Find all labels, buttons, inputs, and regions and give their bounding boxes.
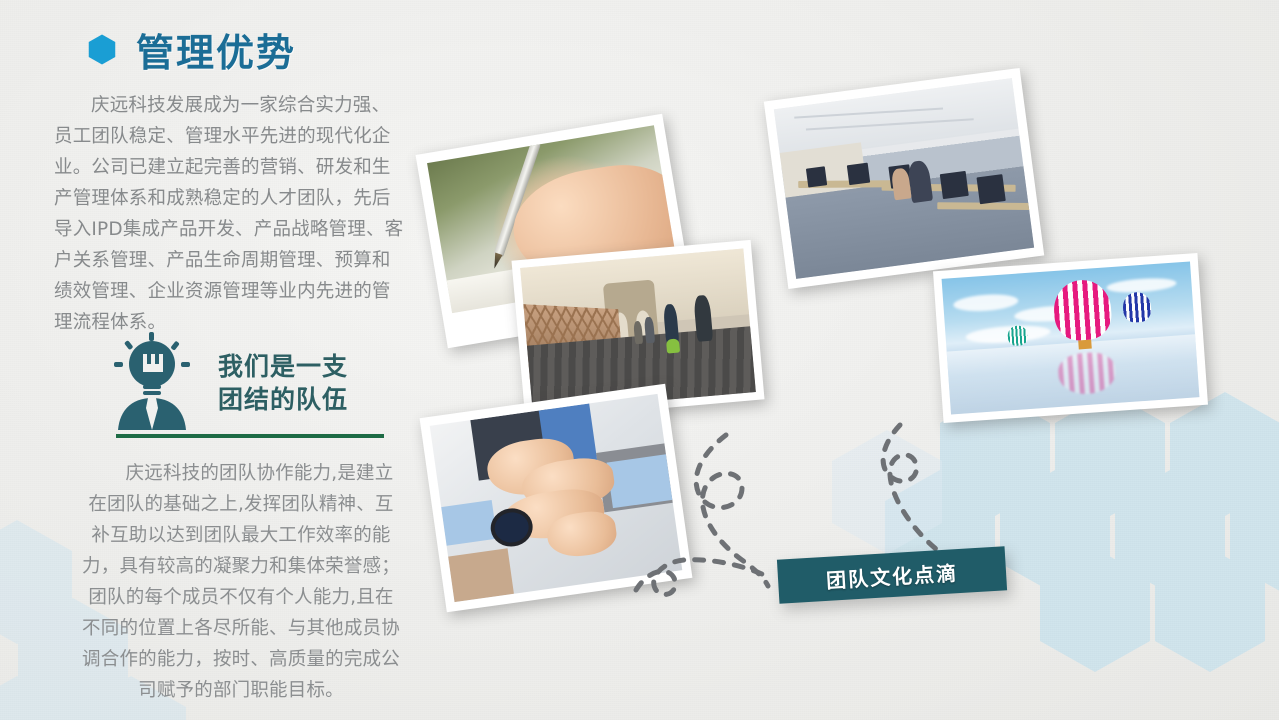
- photo-office-image: [774, 78, 1034, 279]
- photo-balloon[interactable]: [933, 253, 1208, 423]
- photo-office[interactable]: [764, 68, 1044, 289]
- balloon-pink: [1052, 278, 1113, 342]
- slide-canvas: 管理优势 庆远科技发展成为一家综合实力强、员工团队稳定、管理水平先进的现代化企业…: [0, 0, 1279, 720]
- intro-paragraph: 庆远科技发展成为一家综合实力强、员工团队稳定、管理水平先进的现代化企业。公司已建…: [54, 90, 404, 338]
- balloon-blue: [1122, 292, 1151, 324]
- team-badge: 我们是一支 团结的队伍: [112, 332, 348, 430]
- page-title-row: 管理优势: [88, 22, 296, 77]
- ribbon-label: 团队文化点滴: [825, 557, 958, 594]
- photo-balloon-image: [942, 261, 1200, 414]
- team-badge-heading: 我们是一支 团结的队伍: [218, 332, 348, 416]
- hexagon-bullet-icon: [88, 34, 116, 65]
- teamwork-paragraph: 庆远科技的团队协作能力,是建立在团队的基础之上,发挥团队精神、互补互助以达到团队…: [82, 458, 400, 706]
- photo-hands-image: [430, 394, 683, 602]
- ribbon-banner[interactable]: 团队文化点滴: [777, 546, 1007, 603]
- badge-underline-rule: [116, 434, 384, 438]
- ceiling: [774, 78, 1019, 160]
- photo-hands[interactable]: [420, 384, 693, 613]
- lightbulb-head-person-icon: [112, 332, 192, 430]
- page-title: 管理优势: [136, 22, 296, 77]
